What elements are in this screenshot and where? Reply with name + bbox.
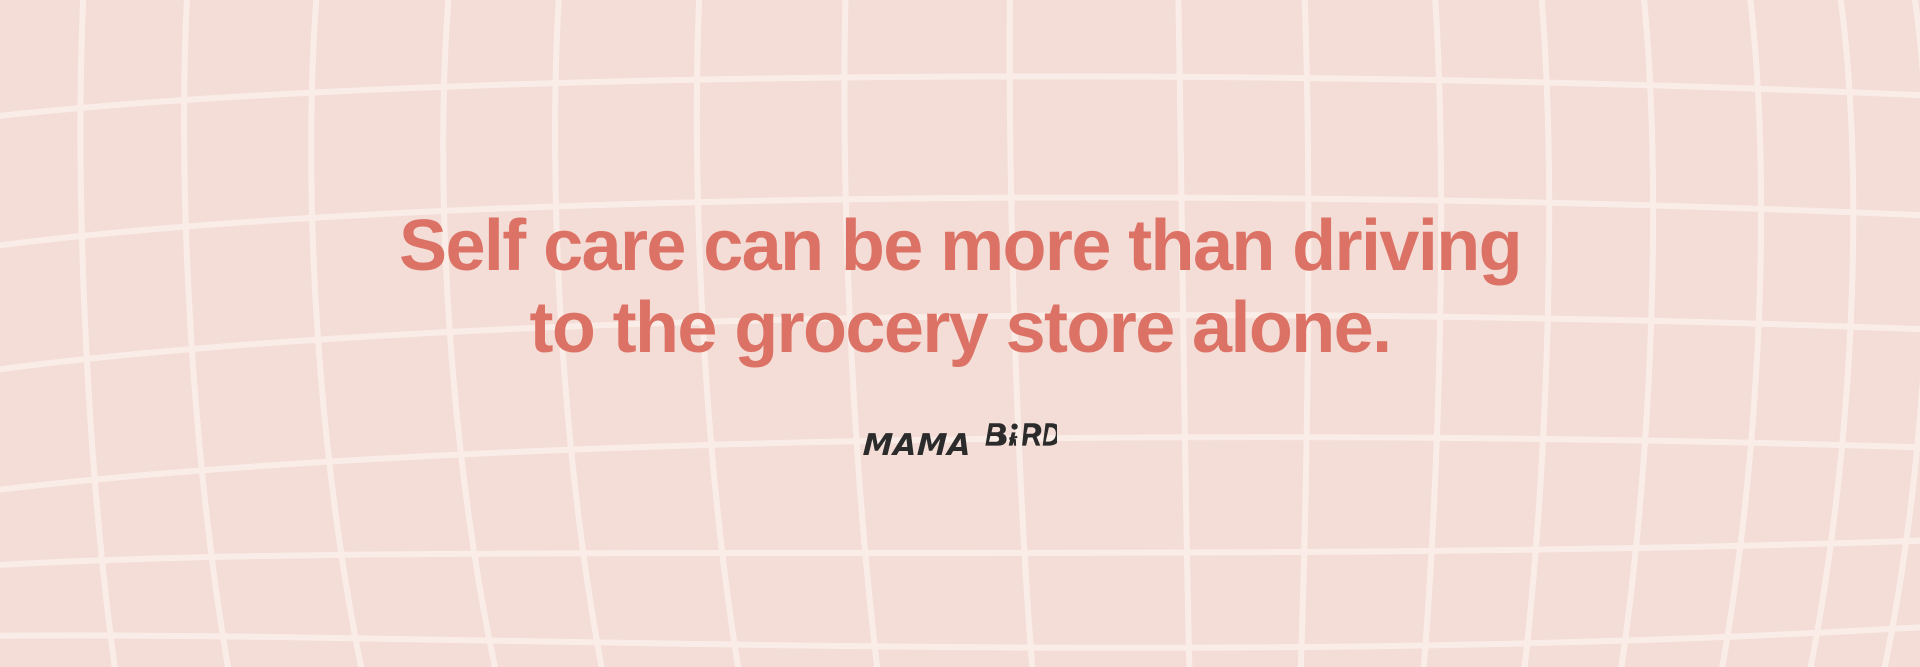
brand-name-mama: MAMA — [863, 431, 973, 461]
brand-name-bird-icon — [983, 421, 1057, 455]
headline-line-1: Self care can be more than driving — [399, 205, 1521, 287]
headline: Self care can be more than driving to th… — [399, 205, 1521, 369]
banner-content: Self care can be more than driving to th… — [0, 0, 1920, 667]
brand-logo: MAMA — [863, 421, 1056, 461]
headline-line-2: to the grocery store alone. — [399, 287, 1521, 369]
promo-banner: Self care can be more than driving to th… — [0, 0, 1920, 667]
